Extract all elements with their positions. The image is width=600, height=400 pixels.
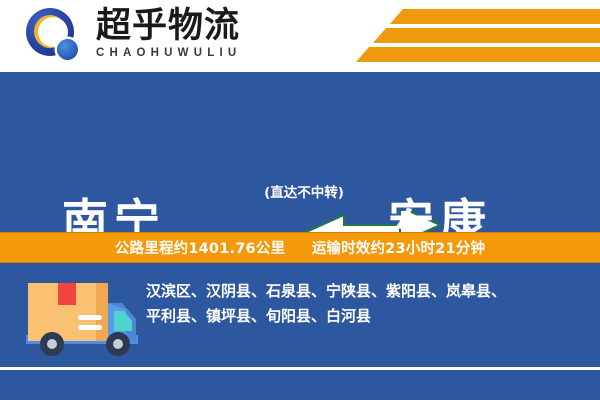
brand-name-en: CHAOHUWULIU (96, 47, 316, 59)
ground-line-divider (0, 367, 600, 370)
route-band: 南宁 (直达不中转) 【往返运输】 安康 (0, 72, 600, 230)
header-stripe-3 (356, 47, 600, 62)
logo-accent-dot (57, 39, 78, 60)
coverage-line-1: 汉滨区、汉阴县、石泉县、宁陕县、紫阳县、岚皋县、 (146, 279, 586, 304)
delivery-truck-icon (22, 275, 144, 363)
logistics-route-banner: 超乎物流 CHAOHUWULIU 南宁 (直达不中转) 【往返运输】 安康 (0, 0, 600, 400)
brand-name-cn: 超乎物流 (96, 7, 316, 45)
duration-label: 运输时效约23小时21分钟 (312, 241, 485, 257)
direct-shipping-note: (直达不中转) (236, 184, 372, 202)
coverage-band: 汉滨区、汉阴县、石泉县、宁陕县、紫阳县、岚皋县、 平利县、镇坪县、旬阳县、白河县 (0, 263, 600, 400)
banner-header: 超乎物流 CHAOHUWULIU (0, 0, 600, 72)
coverage-line-2: 平利县、镇坪县、旬阳县、白河县 (146, 304, 586, 329)
route-info-bar: 公路里程约1401.76公里 运输时效约23小时21分钟 (0, 232, 600, 263)
chaohu-logo-mark (26, 8, 82, 64)
header-stripe-2 (373, 28, 600, 43)
route-info-text: 公路里程约1401.76公里 运输时效约23小时21分钟 (115, 237, 485, 258)
brand-text-block: 超乎物流 CHAOHUWULIU (96, 7, 316, 59)
header-stripe-1 (390, 9, 600, 24)
distance-label: 公路里程约1401.76公里 (115, 241, 285, 257)
coverage-area-list: 汉滨区、汉阴县、石泉县、宁陕县、紫阳县、岚皋县、 平利县、镇坪县、旬阳县、白河县 (146, 279, 586, 329)
